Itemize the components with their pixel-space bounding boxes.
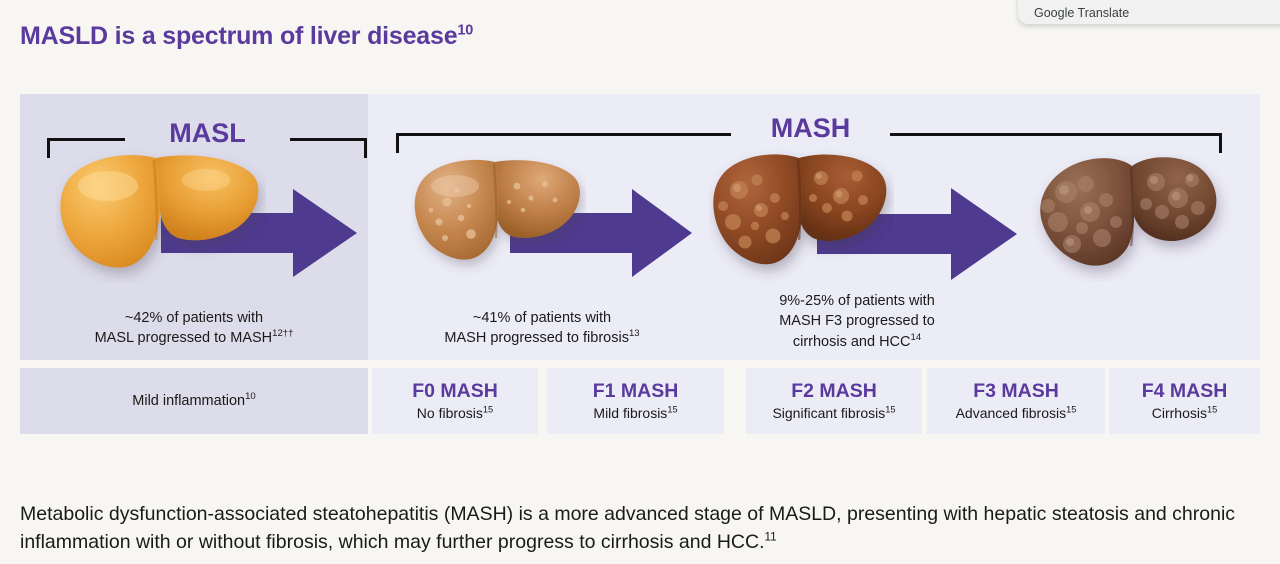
liver-icon-inflamed xyxy=(411,154,586,279)
fibrosis-stage-row: Mild inflammation10 F0 MASH No fibrosis1… xyxy=(20,368,1260,434)
body-paragraph: Metabolic dysfunction-associated steatoh… xyxy=(20,500,1260,556)
google-translate-label: Google Translate xyxy=(1034,6,1129,20)
bracket-mash-line-right xyxy=(890,133,1222,136)
page-title: MASLD is a spectrum of liver disease10 xyxy=(20,22,473,51)
stage-box-2-sub-wrap: Mild fibrosis15 xyxy=(593,404,677,422)
stage-box-4-sub-wrap: Advanced fibrosis15 xyxy=(956,404,1077,422)
liver-icon-cirrhotic xyxy=(1032,152,1232,282)
bracket-masl-line-left xyxy=(47,138,125,141)
bracket-mash-tick-left xyxy=(396,133,399,153)
page-title-reference: 10 xyxy=(457,23,473,39)
body-paragraph-reference: 11 xyxy=(765,530,777,543)
liver-icon-fibrotic xyxy=(709,148,894,284)
stage-box-5-reference: 15 xyxy=(1207,404,1217,414)
stage-box-mild-inflammation-text: Mild inflammation10 xyxy=(132,393,255,409)
stage-box-1-reference: 15 xyxy=(483,404,493,414)
stage-box-2-sub: Mild fibrosis xyxy=(593,405,667,421)
stage-box-1-sub-wrap: No fibrosis15 xyxy=(417,404,493,422)
stage-box-4-sub: Advanced fibrosis xyxy=(956,405,1067,421)
stage-mash-early-caption-text: ~41% of patients with MASH progressed to… xyxy=(444,310,629,347)
stage-box-1-sub: No fibrosis xyxy=(417,405,483,421)
stage-box-4-title: F3 MASH xyxy=(973,380,1059,402)
stage-box-1-title: F0 MASH xyxy=(412,380,498,402)
stage-box-f3: F3 MASH Advanced fibrosis15 xyxy=(927,368,1105,434)
stage-box-mild-inflammation: Mild inflammation10 xyxy=(20,368,368,434)
bracket-masl-tick-left xyxy=(47,138,50,158)
bracket-masl-tick-right xyxy=(364,138,367,158)
bracket-mash-label: MASH xyxy=(731,115,890,142)
bracket-mash-line-left xyxy=(396,133,731,136)
liver-icon-steatotic xyxy=(56,148,266,283)
google-translate-widget[interactable]: Google Translate xyxy=(1018,0,1280,24)
stage-box-0-reference: 10 xyxy=(245,391,256,402)
stage-box-2-reference: 15 xyxy=(667,404,677,414)
stage-mash-early-caption: ~41% of patients with MASH progressed to… xyxy=(392,287,692,349)
stage-masl-caption-text: ~42% of patients with MASL progressed to… xyxy=(95,310,273,347)
stage-box-5-sub: Cirrhosis xyxy=(1152,405,1207,421)
stage-box-2-title: F1 MASH xyxy=(593,380,679,402)
stage-box-5-title: F4 MASH xyxy=(1142,380,1228,402)
stage-box-3-reference: 15 xyxy=(885,404,895,414)
stage-masl-caption-reference: 12†† xyxy=(272,328,293,339)
bracket-masl: MASL xyxy=(47,112,367,144)
stage-box-5-sub-wrap: Cirrhosis15 xyxy=(1152,404,1218,422)
stage-box-0-sub: Mild inflammation xyxy=(132,393,245,409)
bracket-mash: MASH xyxy=(396,107,1222,139)
liver-disease-spectrum-diagram: MASL MASH xyxy=(20,94,1260,360)
stage-box-f1: F1 MASH Mild fibrosis15 xyxy=(547,368,724,434)
body-paragraph-text: Metabolic dysfunction-associated steatoh… xyxy=(20,503,1235,553)
stage-box-f4: F4 MASH Cirrhosis15 xyxy=(1109,368,1260,434)
stage-masl-caption: ~42% of patients with MASL progressed to… xyxy=(28,287,360,349)
stage-box-f0: F0 MASH No fibrosis15 xyxy=(372,368,538,434)
bracket-mash-tick-right xyxy=(1219,133,1222,153)
stage-mash-fibrosis-caption: 9%-25% of patients with MASH F3 progress… xyxy=(692,270,1022,352)
stage-box-f2: F2 MASH Significant fibrosis15 xyxy=(746,368,922,434)
bracket-masl-line-right xyxy=(290,138,367,141)
stage-box-3-title: F2 MASH xyxy=(791,380,877,402)
bracket-masl-label: MASL xyxy=(125,120,290,147)
stage-mash-early-caption-reference: 13 xyxy=(629,328,640,339)
page-title-text: MASLD is a spectrum of liver disease xyxy=(20,22,457,50)
stage-mash-fibrosis-caption-reference: 14 xyxy=(911,332,922,343)
stage-box-4-reference: 15 xyxy=(1066,404,1076,414)
stage-box-3-sub: Significant fibrosis xyxy=(772,405,885,421)
stage-box-3-sub-wrap: Significant fibrosis15 xyxy=(772,404,895,422)
